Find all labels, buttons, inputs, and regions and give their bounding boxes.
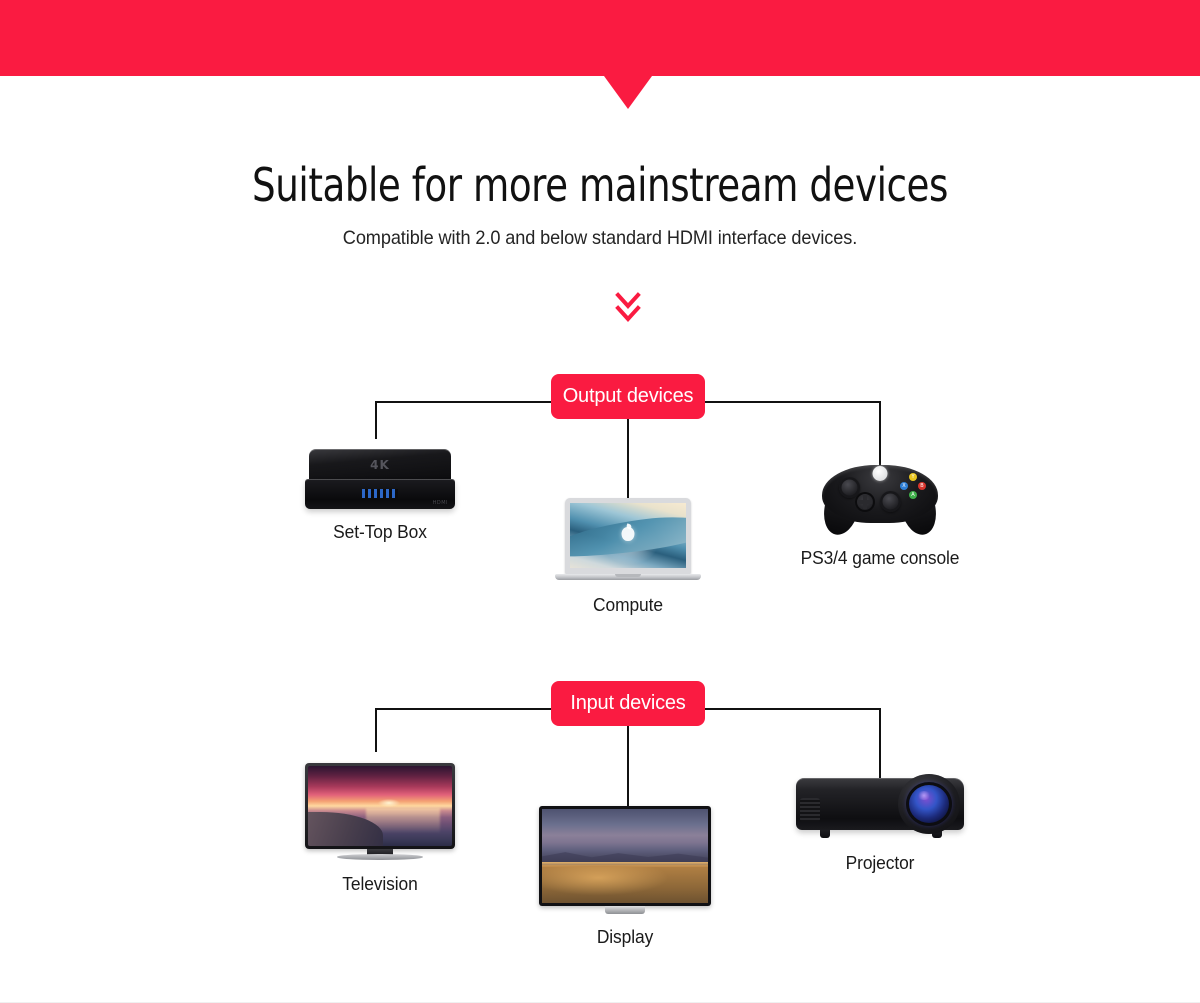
monitor-display-icon xyxy=(539,806,711,916)
badge-output-devices[interactable]: Output devices xyxy=(551,374,705,419)
device-caption-set-top-box: Set-Top Box xyxy=(263,521,498,543)
projector-lens xyxy=(906,782,952,826)
set-top-box-led-display xyxy=(362,489,398,498)
connector-vertical-center xyxy=(627,419,629,506)
controller-button-x: X xyxy=(900,482,908,490)
controller-dpad xyxy=(855,492,875,512)
apple-logo-icon xyxy=(622,527,635,541)
page-title: Suitable for more mainstream devices xyxy=(60,157,1140,213)
connector-vertical-left xyxy=(375,708,377,752)
laptop-computer-icon xyxy=(555,498,701,584)
controller-button-y: Y xyxy=(909,473,917,481)
device-caption-television: Television xyxy=(263,873,498,895)
device-television[interactable]: Television xyxy=(255,763,505,895)
device-display[interactable]: Display xyxy=(500,806,750,948)
controller-abxy-cluster: Y X B A xyxy=(900,473,926,499)
set-top-box-4k-label: 4K xyxy=(309,458,451,472)
device-set-top-box[interactable]: 4K HDMI Set-Top Box xyxy=(255,449,505,543)
connector-vertical-left xyxy=(375,401,377,439)
device-caption-projector: Projector xyxy=(763,852,998,874)
banner-pointer-triangle xyxy=(604,76,652,109)
device-caption-game-console: PS3/4 game console xyxy=(763,547,998,569)
game-controller-icon: Y X B A xyxy=(822,459,938,537)
device-game-console[interactable]: Y X B A PS3/4 game console xyxy=(755,459,1005,569)
connector-vertical-right xyxy=(879,401,881,465)
controller-guide-button xyxy=(873,466,888,481)
device-caption-display: Display xyxy=(508,926,743,948)
badge-input-devices[interactable]: Input devices xyxy=(551,681,705,726)
heading-block: Suitable for more mainstream devices Com… xyxy=(0,157,1200,250)
television-icon xyxy=(305,763,455,863)
set-top-box-hdmi-label: HDMI xyxy=(433,500,448,506)
page-subtitle: Compatible with 2.0 and below standard H… xyxy=(42,227,1158,250)
controller-right-stick xyxy=(880,491,901,512)
device-computer[interactable]: Compute xyxy=(503,498,753,616)
controller-button-a: A xyxy=(909,491,917,499)
device-caption-computer: Compute xyxy=(511,594,746,616)
top-banner xyxy=(0,0,1200,76)
device-projector[interactable]: Projector xyxy=(755,774,1005,874)
controller-button-b: B xyxy=(918,482,926,490)
projector-icon xyxy=(796,774,964,842)
set-top-box-icon: 4K HDMI xyxy=(305,449,455,511)
double-chevron-down-icon xyxy=(600,292,656,326)
